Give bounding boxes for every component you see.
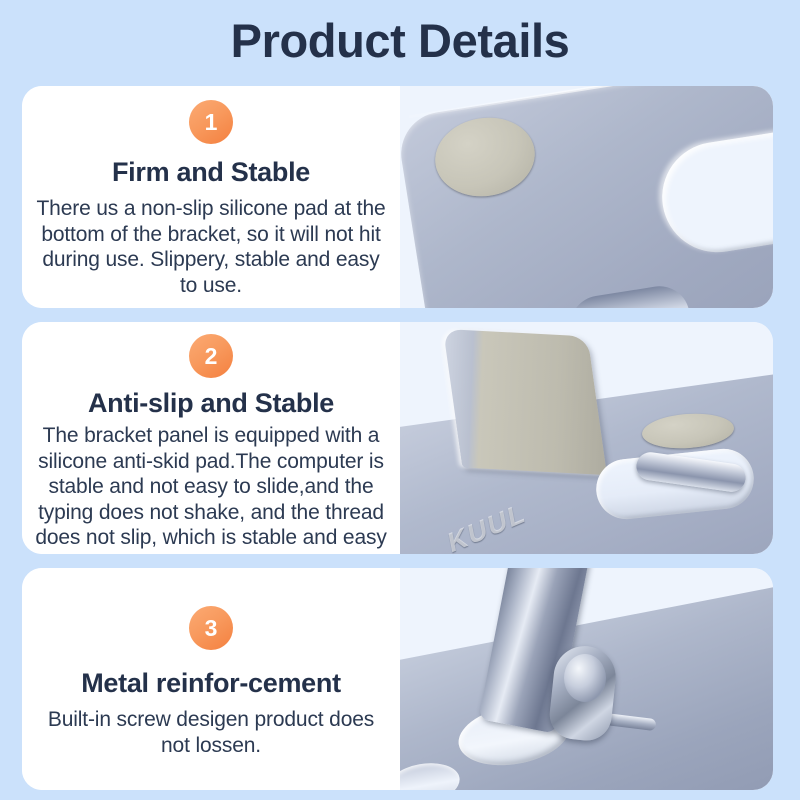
hinge-screw-cap <box>564 654 606 702</box>
page-title: Product Details <box>0 12 800 70</box>
feature-card-2-heading: Anti-slip and Stable <box>88 386 334 420</box>
feature-card-2: 2 Anti-slip and Stable The bracket panel… <box>22 322 773 554</box>
step-badge-3: 3 <box>189 606 233 650</box>
product-photo-3 <box>400 568 773 790</box>
feature-card-3-body: Built-in screw desigen product does not … <box>32 707 390 758</box>
step-badge-1: 1 <box>189 100 233 144</box>
feature-card-1-heading: Firm and Stable <box>112 155 310 189</box>
bracket-lip-with-silicone-pad <box>443 329 607 475</box>
feature-card-2-body: The bracket panel is equipped with a sil… <box>32 423 390 554</box>
product-photo-2: KUUL <box>400 322 773 554</box>
feature-card-3-heading: Metal reinfor-cement <box>81 666 341 700</box>
product-photo-1 <box>400 86 773 308</box>
feature-card-1-body: There us a non-slip silicone pad at the … <box>32 196 390 298</box>
feature-card-1-text: 1 Firm and Stable There us a non-slip si… <box>22 86 400 308</box>
feature-card-3: 3 Metal reinfor-cement Built-in screw de… <box>22 568 773 790</box>
feature-card-1: 1 Firm and Stable There us a non-slip si… <box>22 86 773 308</box>
feature-card-2-text: 2 Anti-slip and Stable The bracket panel… <box>22 322 400 554</box>
product-details-page: Product Details 1 Firm and Stable There … <box>0 0 800 800</box>
step-badge-2: 2 <box>189 334 233 378</box>
feature-card-3-text: 3 Metal reinfor-cement Built-in screw de… <box>22 568 400 790</box>
